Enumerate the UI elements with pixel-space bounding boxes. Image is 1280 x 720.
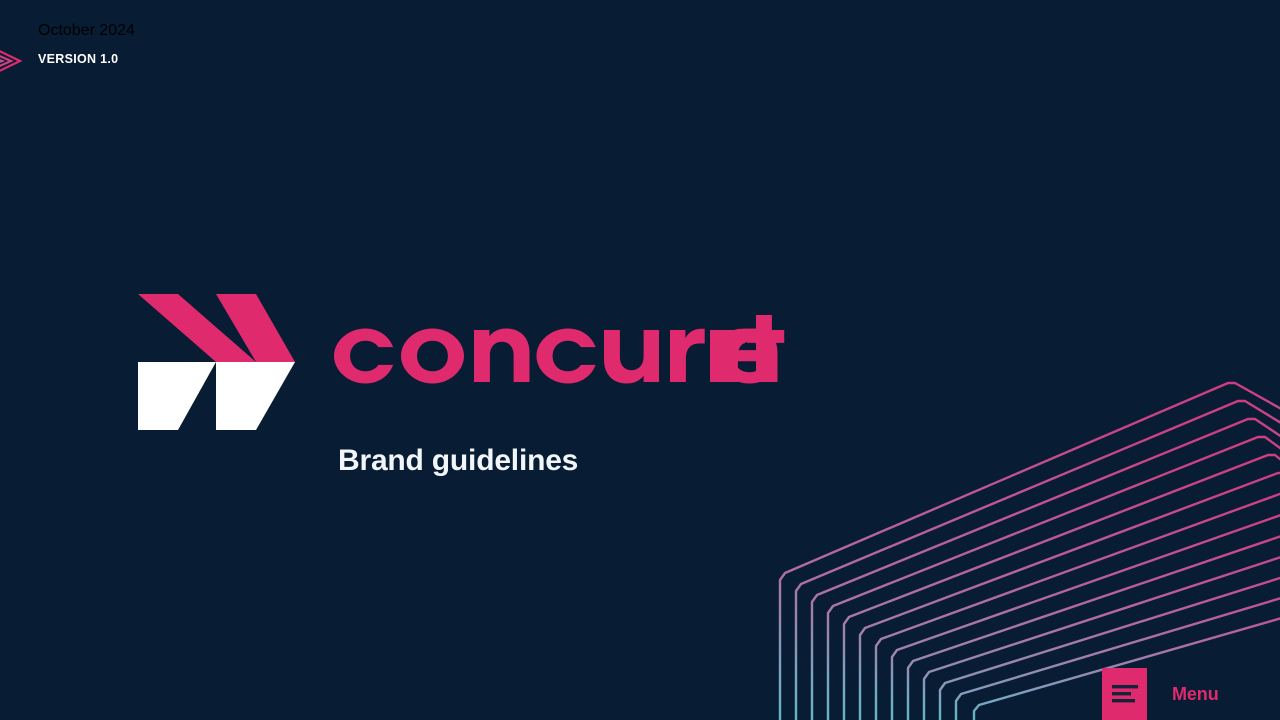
logo-lockup: [138, 292, 786, 432]
concurrent-wordmark: [334, 312, 786, 392]
menu-label[interactable]: Menu: [1172, 684, 1219, 705]
brand-guidelines-title-slide: October 2024 VERSION 1.0: [0, 0, 1280, 720]
menu-group[interactable]: Menu: [1102, 668, 1219, 720]
double-chevron-mark-icon: [138, 292, 296, 432]
menu-button[interactable]: [1102, 668, 1147, 720]
meta-date: October 2024: [38, 22, 135, 40]
slide-meta: October 2024 VERSION 1.0: [38, 22, 135, 67]
hamburger-icon: [1112, 685, 1138, 703]
meta-version: VERSION 1.0: [38, 51, 135, 67]
wordmark-wrap: [334, 312, 786, 392]
page-title: Brand guidelines: [338, 444, 578, 478]
